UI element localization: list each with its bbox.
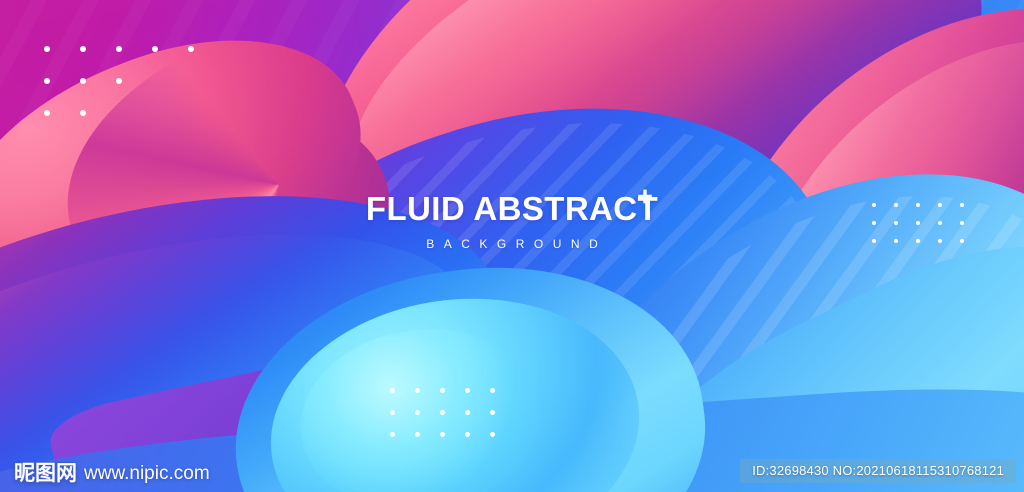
nipic-logo: 昵图网 bbox=[14, 463, 77, 484]
dot bbox=[44, 46, 50, 52]
dot bbox=[894, 203, 898, 207]
dot bbox=[894, 239, 898, 243]
dot bbox=[490, 432, 495, 437]
dot bbox=[960, 203, 964, 207]
dot bbox=[938, 203, 942, 207]
dot bbox=[465, 432, 470, 437]
dot bbox=[872, 221, 876, 225]
dot bbox=[938, 239, 942, 243]
dot bbox=[80, 110, 86, 116]
dot bbox=[872, 203, 876, 207]
dot bbox=[916, 239, 920, 243]
dot bbox=[80, 46, 86, 52]
dot bbox=[390, 410, 395, 415]
dot-grid-top-left bbox=[44, 46, 194, 116]
dot bbox=[390, 388, 395, 393]
dot bbox=[960, 239, 964, 243]
plus-icon bbox=[637, 189, 653, 205]
dot bbox=[894, 221, 898, 225]
dot-grid-bottom-center bbox=[390, 388, 495, 437]
dot bbox=[188, 46, 194, 52]
dot bbox=[390, 432, 395, 437]
dot bbox=[116, 46, 122, 52]
dot bbox=[440, 432, 445, 437]
dot bbox=[490, 410, 495, 415]
dot bbox=[152, 46, 158, 52]
dot bbox=[415, 410, 420, 415]
dot bbox=[440, 388, 445, 393]
dot-grid-right bbox=[872, 203, 964, 243]
dot bbox=[490, 388, 495, 393]
dot bbox=[415, 388, 420, 393]
watermark: 昵图网 www.nipic.com bbox=[14, 463, 210, 484]
dot bbox=[465, 410, 470, 415]
dot bbox=[80, 78, 86, 84]
dot bbox=[872, 239, 876, 243]
dot bbox=[465, 388, 470, 393]
dot bbox=[440, 410, 445, 415]
dot bbox=[44, 110, 50, 116]
dot bbox=[916, 203, 920, 207]
dot bbox=[938, 221, 942, 225]
watermark-url: www.nipic.com bbox=[84, 464, 210, 483]
artwork-canvas: FLUID ABSTRACT BACKGROUND 昵图网 www.nipic.… bbox=[0, 0, 1024, 492]
dot bbox=[960, 221, 964, 225]
dot bbox=[916, 221, 920, 225]
dot bbox=[44, 78, 50, 84]
image-id-badge: ID:32698430 NO:20210618115310768121 bbox=[740, 459, 1016, 483]
dot bbox=[116, 78, 122, 84]
dot bbox=[415, 432, 420, 437]
